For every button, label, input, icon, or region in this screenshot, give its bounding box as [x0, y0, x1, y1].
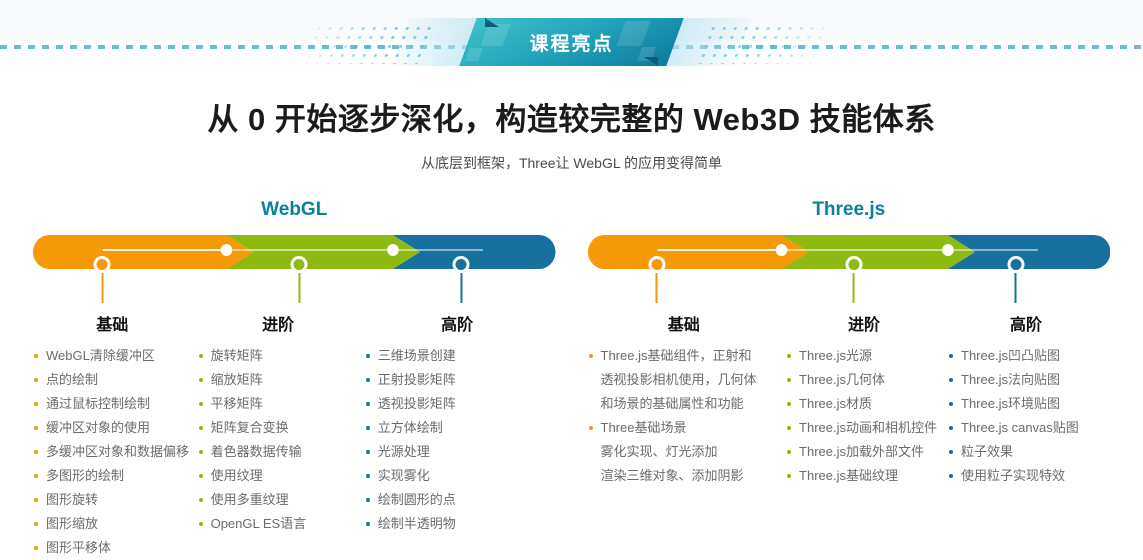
list-item: Three.js canvas贴图 [948, 416, 1104, 440]
track-webgl-markers [33, 269, 556, 321]
list-item: 图形平移体 [33, 536, 192, 560]
marker-knob-icon [94, 256, 111, 273]
column-webgl-basic: 基础 WebGL清除缓冲区 点的绘制 通过鼠标控制绘制 缓冲区对象的使用 多缓冲… [33, 311, 198, 560]
curriculum-tracks: WebGL [0, 199, 1143, 560]
list-item: 使用纹理 [198, 464, 359, 488]
list-item: 多图形的绘制 [33, 464, 192, 488]
list-item: 图形旋转 [33, 488, 192, 512]
list-item: 使用粒子实现特效 [948, 464, 1104, 488]
list-item-line: Three.js基础组件，正射和 [601, 344, 781, 368]
list-item: 多缓冲区对象和数据偏移 [33, 440, 192, 464]
list-item: WebGL清除缓冲区 [33, 344, 192, 368]
marker-knob-icon [291, 256, 308, 273]
list-item: 缓冲区对象的使用 [33, 416, 192, 440]
marker-stem-icon [460, 273, 462, 303]
marker-knob-icon [453, 256, 470, 273]
column-webgl-intermediate: 进阶 旋转矩阵 缩放矩阵 平移矩阵 矩阵复合变换 着色器数据传输 使用纹理 使用… [198, 311, 365, 560]
list-item: Three.js基础组件，正射和 透视投影相机使用，几何体 和场景的基础属性和功… [588, 344, 781, 416]
list-item: 旋转矩阵 [198, 344, 359, 368]
marker-stem-icon [101, 273, 103, 303]
marker-webgl-basic[interactable] [94, 256, 111, 303]
list-item-line: 透视投影相机使用，几何体 [601, 368, 781, 392]
column-list: Three.js基础组件，正射和 透视投影相机使用，几何体 和场景的基础属性和功… [588, 344, 781, 488]
list-item: Three.js基础纹理 [786, 464, 942, 488]
list-item: Three.js光源 [786, 344, 942, 368]
list-item-line: 雾化实现、灯光添加 [601, 440, 781, 464]
marker-threejs-intermediate[interactable] [845, 256, 862, 303]
page-subtitle: 从底层到框架，Three让 WebGL 的应用变得简单 [0, 153, 1143, 173]
list-item: Three.js法向贴图 [948, 368, 1104, 392]
marker-knob-icon [1007, 256, 1024, 273]
list-item-line: 渲染三维对象、添加阴影 [601, 464, 781, 488]
list-item: 着色器数据传输 [198, 440, 359, 464]
list-item: Three.js材质 [786, 392, 942, 416]
column-webgl-advanced: 高阶 三维场景创建 正射投影矩阵 透视投影矩阵 立方体绘制 光源处理 实现雾化 … [365, 311, 556, 560]
track-threejs-columns: 基础 Three.js基础组件，正射和 透视投影相机使用，几何体 和场景的基础属… [588, 311, 1111, 488]
list-item: 光源处理 [365, 440, 550, 464]
list-item: Three.js动画和相机控件 [786, 416, 942, 440]
list-item: OpenGL ES语言 [198, 512, 359, 536]
column-list: 旋转矩阵 缩放矩阵 平移矩阵 矩阵复合变换 着色器数据传输 使用纹理 使用多重纹… [198, 344, 359, 536]
list-item: 实现雾化 [365, 464, 550, 488]
list-item: 使用多重纹理 [198, 488, 359, 512]
track-threejs-markers [588, 269, 1111, 321]
list-item-line: 和场景的基础属性和功能 [601, 392, 781, 416]
page-heading-block: 从 0 开始逐步深化，构造较完整的 Web3D 技能体系 从底层到框架，Thre… [0, 94, 1143, 173]
track-threejs-title: Three.js [588, 199, 1111, 221]
marker-webgl-intermediate[interactable] [291, 256, 308, 303]
course-highlight-banner: 课程亮点 [0, 0, 1143, 78]
column-list: Three.js凹凸贴图 Three.js法向贴图 Three.js环境贴图 T… [948, 344, 1104, 488]
marker-threejs-advanced[interactable] [1007, 256, 1024, 303]
list-item: Three.js凹凸贴图 [948, 344, 1104, 368]
column-list: Three.js光源 Three.js几何体 Three.js材质 Three.… [786, 344, 942, 488]
list-item: 绘制圆形的点 [365, 488, 550, 512]
marker-stem-icon [656, 273, 658, 303]
list-item: Three基础场景 雾化实现、灯光添加 渲染三维对象、添加阴影 [588, 416, 781, 488]
track-webgl-title: WebGL [33, 199, 556, 221]
list-item: 缩放矩阵 [198, 368, 359, 392]
marker-webgl-advanced[interactable] [453, 256, 470, 303]
list-item: 透视投影矩阵 [365, 392, 550, 416]
list-item: 绘制半透明物 [365, 512, 550, 536]
track-threejs: Three.js [588, 199, 1111, 560]
list-item: Three.js几何体 [786, 368, 942, 392]
list-item: Three.js加载外部文件 [786, 440, 942, 464]
list-item: 点的绘制 [33, 368, 192, 392]
list-item: 立方体绘制 [365, 416, 550, 440]
list-item: 矩阵复合变换 [198, 416, 359, 440]
column-list: 三维场景创建 正射投影矩阵 透视投影矩阵 立方体绘制 光源处理 实现雾化 绘制圆… [365, 344, 550, 536]
column-threejs-intermediate: 进阶 Three.js光源 Three.js几何体 Three.js材质 Thr… [786, 311, 948, 488]
list-item: Three.js环境贴图 [948, 392, 1104, 416]
list-item: 正射投影矩阵 [365, 368, 550, 392]
column-threejs-advanced: 高阶 Three.js凹凸贴图 Three.js法向贴图 Three.js环境贴… [948, 311, 1110, 488]
track-webgl: WebGL [33, 199, 556, 560]
marker-threejs-basic[interactable] [648, 256, 665, 303]
marker-knob-icon [845, 256, 862, 273]
marker-stem-icon [1015, 273, 1017, 303]
column-list: WebGL清除缓冲区 点的绘制 通过鼠标控制绘制 缓冲区对象的使用 多缓冲区对象… [33, 344, 192, 560]
page-title: 从 0 开始逐步深化，构造较完整的 Web3D 技能体系 [0, 94, 1143, 139]
banner-title: 课程亮点 [468, 18, 675, 66]
marker-stem-icon [853, 273, 855, 303]
list-item: 图形缩放 [33, 512, 192, 536]
list-item: 通过鼠标控制绘制 [33, 392, 192, 416]
marker-knob-icon [648, 256, 665, 273]
marker-stem-icon [298, 273, 300, 303]
list-item: 三维场景创建 [365, 344, 550, 368]
track-webgl-columns: 基础 WebGL清除缓冲区 点的绘制 通过鼠标控制绘制 缓冲区对象的使用 多缓冲… [33, 311, 556, 560]
list-item: 平移矩阵 [198, 392, 359, 416]
list-item: 粒子效果 [948, 440, 1104, 464]
list-item-line: Three基础场景 [601, 416, 781, 440]
column-threejs-basic: 基础 Three.js基础组件，正射和 透视投影相机使用，几何体 和场景的基础属… [588, 311, 787, 488]
